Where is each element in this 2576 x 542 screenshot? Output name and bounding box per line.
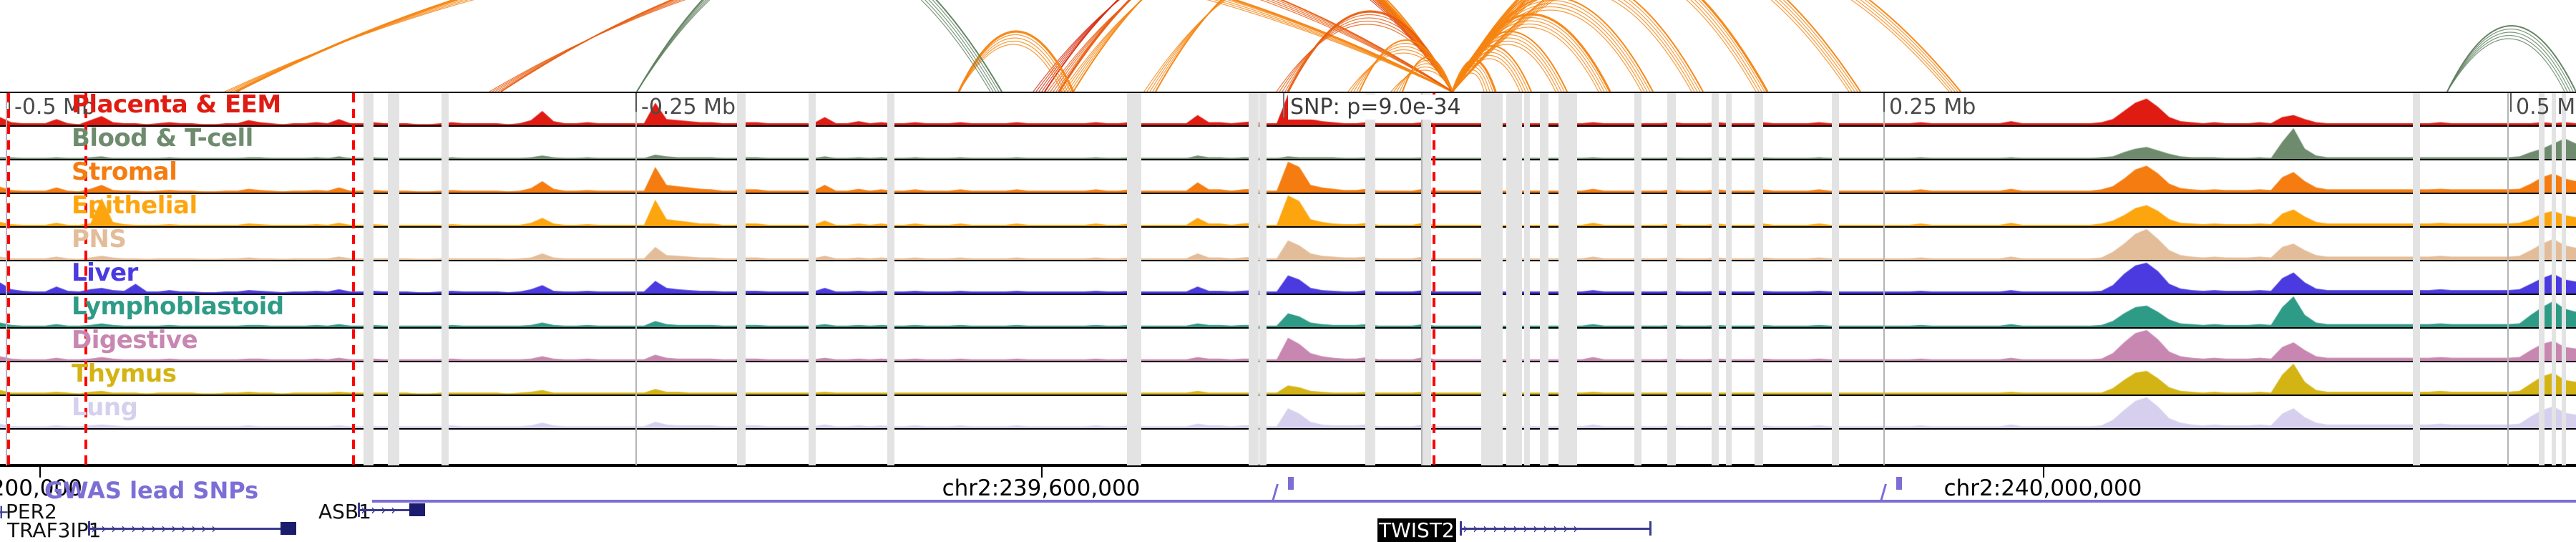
highlight-band	[1832, 93, 1839, 465]
gene-strand-arrows: ›››››››››››››	[91, 520, 292, 537]
highlight-band	[441, 93, 449, 465]
highlight-band	[1259, 93, 1267, 465]
highlight-band	[1481, 93, 1503, 465]
track-label: Liver	[72, 261, 138, 287]
interaction-arc[interactable]	[233, 0, 1453, 92]
highlight-band	[388, 93, 399, 465]
highlight-band	[1540, 93, 1548, 465]
genome-browser: Placenta & EEMBlood & T-cellStromalEpith…	[0, 0, 2576, 537]
gene-strand-arrows: ››››››››››››	[1463, 520, 1648, 537]
highlight-band	[887, 93, 894, 465]
gwas-track-label: GWAS lead SNPs	[44, 477, 258, 504]
highlight-band	[2539, 93, 2545, 465]
highlight-band	[1755, 93, 1763, 465]
track-label: Epithelial	[72, 194, 197, 220]
track-label: Stromal	[72, 160, 177, 186]
highlight-band	[1712, 93, 1719, 465]
highlight-band	[1558, 93, 1577, 465]
highlight-band	[809, 93, 816, 465]
highlight-band	[1365, 93, 1375, 465]
track-label: Lymphoblastoid	[72, 295, 284, 321]
track-label: PNS	[72, 228, 126, 253]
interaction-arc[interactable]	[959, 38, 1068, 92]
track-label: Blood & T-cell	[72, 127, 253, 153]
highlight-band	[1524, 93, 1530, 465]
highlight-band	[364, 93, 374, 465]
gene-exon-box[interactable]	[280, 522, 296, 535]
gene-end-cap	[1649, 521, 1652, 536]
gene-start-cap	[1460, 521, 1462, 536]
highlight-band	[2562, 93, 2566, 465]
track-label: Thymus	[72, 362, 176, 388]
highlight-band	[2552, 93, 2556, 465]
gene-row: TRAF3IP1›››››››››››››TWIST2››››››››››››	[0, 520, 2576, 537]
track-label: Lung	[72, 396, 137, 422]
gene-name-label[interactable]: TWIST2	[1377, 518, 1456, 542]
interaction-arc[interactable]	[225, 0, 1453, 92]
highlight-bands-layer	[0, 93, 2576, 465]
interaction-arc-panel[interactable]	[0, 0, 2576, 92]
gene-name-label[interactable]: TRAF3IP1	[7, 518, 101, 542]
gene-start-cap	[88, 521, 90, 536]
interaction-arc[interactable]	[637, 0, 999, 92]
interaction-arc[interactable]	[2447, 32, 2570, 92]
gene-start-cap	[358, 503, 360, 517]
highlight-band	[2413, 93, 2420, 465]
highlight-band	[1423, 93, 1431, 465]
gene-exon-box[interactable]	[409, 503, 425, 516]
gwas-lead-snp-marker[interactable]	[1288, 477, 1294, 490]
gwas-lead-snp-marker[interactable]	[1896, 477, 1902, 490]
highlight-band	[1634, 93, 1641, 465]
interaction-arc[interactable]	[959, 32, 1073, 92]
highlight-band	[1506, 93, 1522, 465]
track-label: Digestive	[72, 329, 197, 354]
highlight-band	[1667, 93, 1676, 465]
interaction-arc[interactable]	[1453, 0, 1767, 92]
interaction-arc[interactable]	[498, 0, 1453, 92]
track-label: Placenta & EEM	[72, 93, 281, 119]
highlight-band	[1726, 93, 1732, 465]
interaction-arc[interactable]	[489, 0, 1453, 92]
highlight-band	[737, 93, 746, 465]
gene-row: PER2+ASB1››››	[0, 501, 2576, 518]
highlight-band	[1249, 93, 1259, 465]
highlight-band	[1127, 93, 1141, 465]
arc-svg	[0, 0, 2576, 92]
signal-track-panel[interactable]: Placenta & EEMBlood & T-cellStromalEpith…	[0, 92, 2576, 467]
gene-annotation-track[interactable]: PER2+ASB1››››TRAF3IP1›››››››››››››TWIST2…	[0, 501, 2576, 537]
